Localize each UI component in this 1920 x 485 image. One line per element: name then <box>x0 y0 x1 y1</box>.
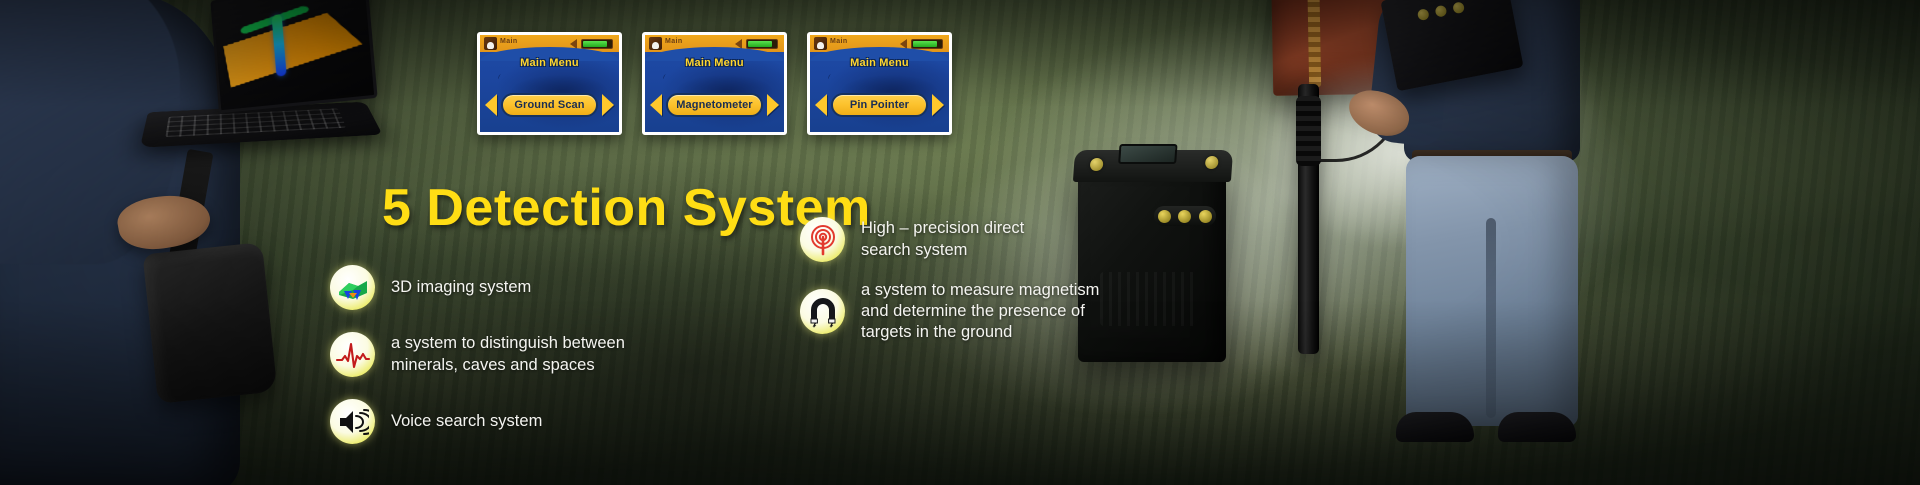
pulse-waveform-icon <box>330 332 375 377</box>
feature-item-high-precision: High – precision direct search system <box>800 217 1220 262</box>
speaker-icon <box>735 39 742 49</box>
tablet-button-icon <box>1434 5 1447 18</box>
feature-item-voice-search: Voice search system <box>330 399 720 444</box>
app-logo-icon <box>814 37 827 50</box>
laptop-keyboard <box>165 108 346 137</box>
panel-title: Main Menu <box>810 57 949 69</box>
feature-label: 3D imaging system <box>391 277 531 298</box>
radar-signal-icon <box>800 217 845 262</box>
detector-knob-icon <box>1090 158 1104 171</box>
mode-button[interactable]: Magnetometer <box>666 93 763 117</box>
tablet-button-icon <box>1452 1 1465 14</box>
panel-selector-row: Pin Pointer <box>810 93 949 117</box>
right-person-shoe <box>1498 412 1576 442</box>
feature-label: a system to distinguish between minerals… <box>391 333 625 375</box>
panel-brand-label: Main <box>830 38 848 45</box>
battery-icon <box>581 39 613 49</box>
laptop-screen <box>210 0 377 113</box>
detector-unit-display <box>1118 144 1177 164</box>
feature-column-left: 3D imaging system a system to distinguis… <box>330 265 720 444</box>
right-person-leg-seam <box>1486 218 1496 418</box>
scan-plot-surface <box>223 13 362 88</box>
feature-label: a system to measure magnetism and determ… <box>861 280 1099 343</box>
feature-item-mineral-discrimination: a system to distinguish between minerals… <box>330 332 720 377</box>
page-title: 5 Detection System <box>382 178 871 238</box>
left-shoulder-bag <box>142 242 277 404</box>
panel-status-bar: Main <box>480 35 619 52</box>
feature-label: High – precision direct search system <box>861 218 1024 260</box>
app-logo-icon <box>649 37 662 50</box>
feature-item-magnetism: a system to measure magnetism and determ… <box>800 280 1220 343</box>
panel-selector-row: Magnetometer <box>645 93 784 117</box>
3d-terrain-icon <box>330 265 375 310</box>
mode-button[interactable]: Ground Scan <box>501 93 598 117</box>
menu-panel-magnetometer[interactable]: Main Main Menu Magnetometer <box>642 32 787 135</box>
promo-banner: Main Main Menu Ground Scan Main Main Men… <box>0 0 1920 485</box>
speaker-icon <box>900 39 907 49</box>
menu-panel-group: Main Main Menu Ground Scan Main Main Men… <box>477 32 952 135</box>
menu-panel-ground-scan[interactable]: Main Main Menu Ground Scan <box>477 32 622 135</box>
panel-title: Main Menu <box>480 57 619 69</box>
panel-brand-label: Main <box>500 38 518 45</box>
detector-knob-icon <box>1205 156 1219 169</box>
prev-arrow-icon[interactable] <box>650 94 662 116</box>
panel-selector-row: Ground Scan <box>480 93 619 117</box>
feature-column-right: High – precision direct search system a … <box>800 217 1220 444</box>
detector-pole-grip <box>1296 96 1321 166</box>
right-person-figure <box>1382 0 1612 485</box>
app-logo-icon <box>484 37 497 50</box>
laptop-device <box>146 0 376 152</box>
battery-icon <box>911 39 943 49</box>
mode-button[interactable]: Pin Pointer <box>831 93 928 117</box>
speaker-sound-icon <box>330 399 375 444</box>
feature-list: 3D imaging system a system to distinguis… <box>330 265 1410 444</box>
next-arrow-icon[interactable] <box>767 94 779 116</box>
next-arrow-icon[interactable] <box>932 94 944 116</box>
feature-item-3d-imaging: 3D imaging system <box>330 265 720 310</box>
tablet-button-icons <box>1417 1 1465 21</box>
panel-status-bar: Main <box>645 35 784 52</box>
horseshoe-magnet-icon <box>800 289 845 334</box>
speaker-icon <box>570 39 577 49</box>
tablet-button-icon <box>1417 8 1430 21</box>
next-arrow-icon[interactable] <box>602 94 614 116</box>
prev-arrow-icon[interactable] <box>485 94 497 116</box>
feature-label: Voice search system <box>391 411 542 432</box>
panel-title: Main Menu <box>645 57 784 69</box>
panel-brand-label: Main <box>665 38 683 45</box>
battery-icon <box>746 39 778 49</box>
prev-arrow-icon[interactable] <box>815 94 827 116</box>
detector-unit-top-panel <box>1073 150 1233 182</box>
menu-panel-pin-pointer[interactable]: Main Main Menu Pin Pointer <box>807 32 952 135</box>
panel-status-bar: Main <box>810 35 949 52</box>
